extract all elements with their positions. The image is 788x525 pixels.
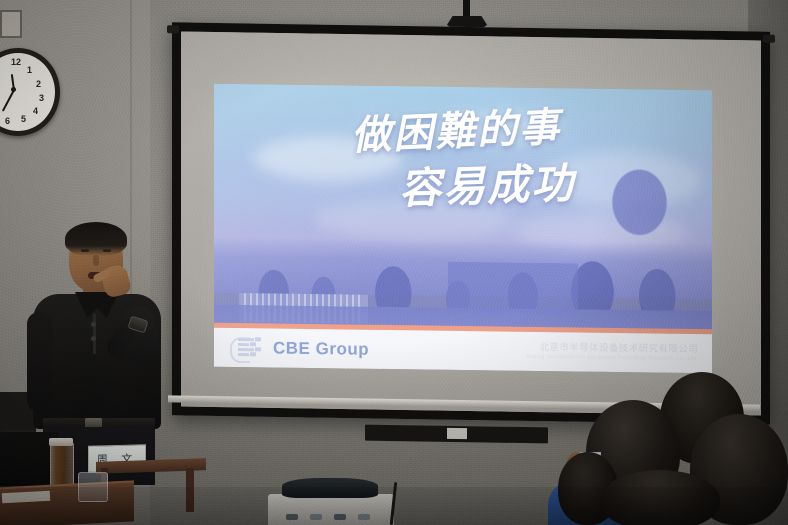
photo-vignette: [0, 0, 788, 525]
photo-scene: 12 1 2 3 4 5 6 做困難的事 容易成: [0, 0, 788, 525]
